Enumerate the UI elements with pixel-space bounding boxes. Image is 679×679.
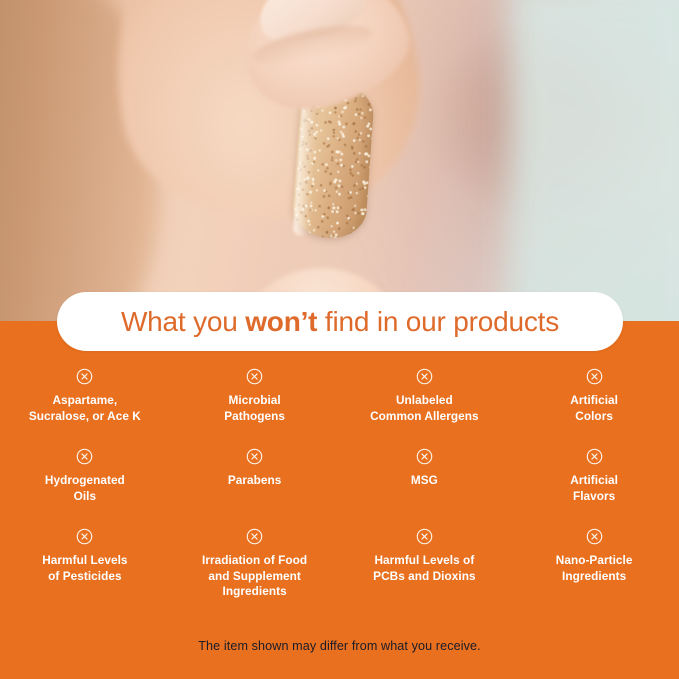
excluded-ingredient-item: Artificial Flavors [509, 448, 679, 515]
excluded-ingredient-item: Microbial Pathogens [170, 368, 340, 435]
circle-x-icon [416, 368, 433, 393]
circle-x-icon [586, 448, 603, 473]
page-title: What you won’t find in our products [121, 306, 559, 338]
title-text-after: find in our products [317, 306, 559, 337]
excluded-ingredient-item: Aspartame, Sucralose, or Ace K [0, 368, 170, 435]
excluded-ingredient-item: MSG [340, 448, 510, 515]
hero-photo [0, 0, 679, 321]
excluded-ingredient-label: Hydrogenated Oils [45, 473, 125, 504]
disclaimer-note: The item shown may differ from what you … [0, 639, 679, 653]
excluded-ingredients-grid: Aspartame, Sucralose, or Ace KMicrobial … [0, 368, 679, 595]
circle-x-icon [586, 368, 603, 393]
excluded-ingredient-item: Artificial Colors [509, 368, 679, 435]
circle-x-icon [246, 448, 263, 473]
excluded-ingredient-label: Microbial Pathogens [224, 393, 285, 424]
excluded-ingredient-label: MSG [411, 473, 438, 489]
excluded-ingredient-label: Irradiation of Food and Supplement Ingre… [202, 553, 307, 600]
title-text-before: What you [121, 306, 245, 337]
circle-x-icon [416, 528, 433, 553]
excluded-ingredient-item: Parabens [170, 448, 340, 515]
excluded-ingredient-label: Aspartame, Sucralose, or Ace K [29, 393, 141, 424]
excluded-ingredient-item: Nano-Particle Ingredients [509, 528, 679, 595]
circle-x-icon [416, 448, 433, 473]
excluded-ingredient-label: Artificial Colors [570, 393, 618, 424]
circle-x-icon [246, 368, 263, 393]
circle-x-icon [76, 528, 93, 553]
excluded-ingredient-item: Irradiation of Food and Supplement Ingre… [170, 528, 340, 595]
excluded-ingredient-label: Harmful Levels of PCBs and Dioxins [373, 553, 475, 584]
excluded-ingredient-label: Harmful Levels of Pesticides [42, 553, 127, 584]
excluded-ingredient-label: Artificial Flavors [570, 473, 618, 504]
circle-x-icon [586, 528, 603, 553]
circle-x-icon [76, 448, 93, 473]
excluded-ingredient-item: Harmful Levels of Pesticides [0, 528, 170, 595]
circle-x-icon [76, 368, 93, 393]
photo-background-right [509, 0, 679, 321]
title-text-emphasis: won’t [245, 306, 317, 337]
excluded-ingredient-label: Unlabeled Common Allergens [370, 393, 479, 424]
excluded-ingredient-item: Unlabeled Common Allergens [340, 368, 510, 435]
excluded-ingredient-item: Harmful Levels of PCBs and Dioxins [340, 528, 510, 595]
title-banner: What you won’t find in our products [57, 292, 623, 351]
circle-x-icon [246, 528, 263, 553]
excluded-ingredient-label: Parabens [228, 473, 282, 489]
excluded-ingredient-item: Hydrogenated Oils [0, 448, 170, 515]
product-infographic: What you won’t find in our products Aspa… [0, 0, 679, 679]
excluded-ingredient-label: Nano-Particle Ingredients [556, 553, 633, 584]
